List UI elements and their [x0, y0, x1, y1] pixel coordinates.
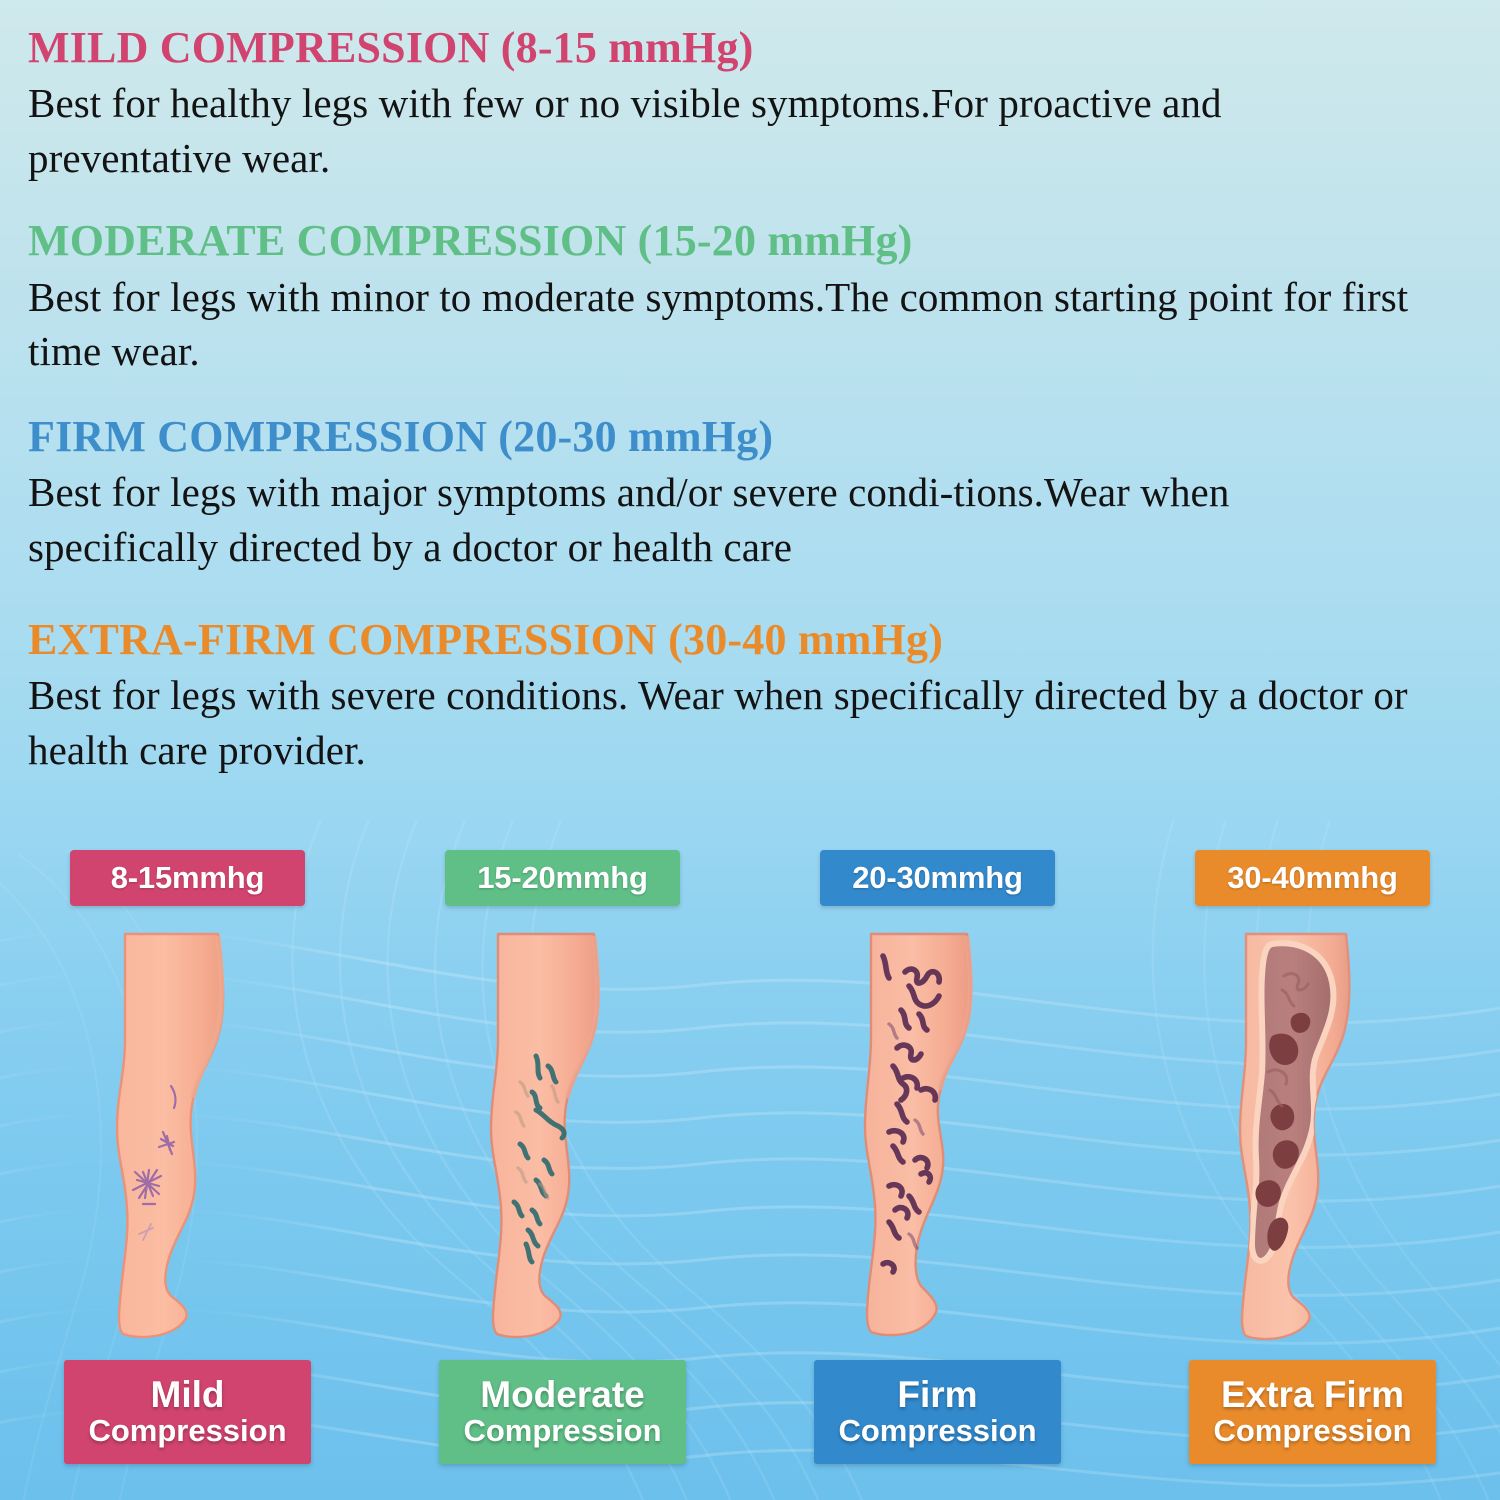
name-box-title-firm: Firm: [897, 1376, 977, 1414]
name-box-title-extra-firm: Extra Firm: [1221, 1376, 1404, 1414]
section-body-moderate: Best for legs with minor to moderate sym…: [28, 270, 1428, 379]
name-box-title-moderate: Moderate: [480, 1376, 644, 1414]
range-badge-mild[interactable]: 8-15mmhg: [70, 850, 305, 906]
section-body-extra-firm: Best for legs with severe conditions. We…: [28, 668, 1428, 777]
name-box-sub-mild: Compression: [88, 1414, 286, 1447]
section-firm: FIRM COMPRESSION (20-30 mmHg) Best for l…: [28, 409, 1472, 574]
leg-minor-varicose-veins-icon: [448, 914, 678, 1359]
section-extra-firm: EXTRA-FIRM COMPRESSION (30-40 mmHg) Best…: [28, 612, 1472, 777]
leg-illustration-extra-firm-wrap: [1125, 914, 1500, 1360]
leg-venous-ulcer-icon: [1198, 914, 1428, 1359]
compression-level-columns: 8-15mmhg: [0, 840, 1500, 1500]
leg-illustration-firm-wrap: [750, 914, 1125, 1360]
range-badge-extra-firm[interactable]: 30-40mmhg: [1195, 850, 1430, 906]
name-box-moderate[interactable]: Moderate Compression: [439, 1360, 686, 1464]
leg-illustration-mild-wrap: [0, 914, 375, 1360]
compression-levels-text-block: MILD COMPRESSION (8-15 mmHg) Best for he…: [0, 0, 1500, 830]
section-heading-extra-firm: EXTRA-FIRM COMPRESSION (30-40 mmHg): [28, 612, 1472, 668]
column-mild: 8-15mmhg: [0, 840, 375, 1500]
range-badge-moderate[interactable]: 15-20mmhg: [445, 850, 680, 906]
section-body-firm: Best for legs with major symptoms and/or…: [28, 465, 1428, 574]
leg-healthy-spider-veins-icon: [73, 914, 303, 1359]
column-extra-firm: 30-40mmhg: [1125, 840, 1500, 1500]
name-box-mild[interactable]: Mild Compression: [64, 1360, 311, 1464]
name-box-firm[interactable]: Firm Compression: [814, 1360, 1061, 1464]
section-body-mild: Best for healthy legs with few or no vis…: [28, 76, 1428, 185]
name-box-title-mild: Mild: [151, 1376, 225, 1414]
name-box-sub-moderate: Compression: [463, 1414, 661, 1447]
leg-illustration-moderate-wrap: [375, 914, 750, 1360]
column-firm: 20-30mmhg: [750, 840, 1125, 1500]
section-mild: MILD COMPRESSION (8-15 mmHg) Best for he…: [28, 20, 1472, 185]
section-heading-moderate: MODERATE COMPRESSION (15-20 mmHg): [28, 213, 1472, 269]
name-box-sub-extra-firm: Compression: [1213, 1414, 1411, 1447]
section-moderate: MODERATE COMPRESSION (15-20 mmHg) Best f…: [28, 213, 1472, 378]
leg-severe-varicose-veins-icon: [823, 914, 1053, 1359]
section-heading-firm: FIRM COMPRESSION (20-30 mmHg): [28, 409, 1472, 465]
range-badge-firm[interactable]: 20-30mmhg: [820, 850, 1055, 906]
column-moderate: 15-20mmhg: [375, 840, 750, 1500]
name-box-sub-firm: Compression: [838, 1414, 1036, 1447]
name-box-extra-firm[interactable]: Extra Firm Compression: [1189, 1360, 1436, 1464]
section-heading-mild: MILD COMPRESSION (8-15 mmHg): [28, 20, 1472, 76]
